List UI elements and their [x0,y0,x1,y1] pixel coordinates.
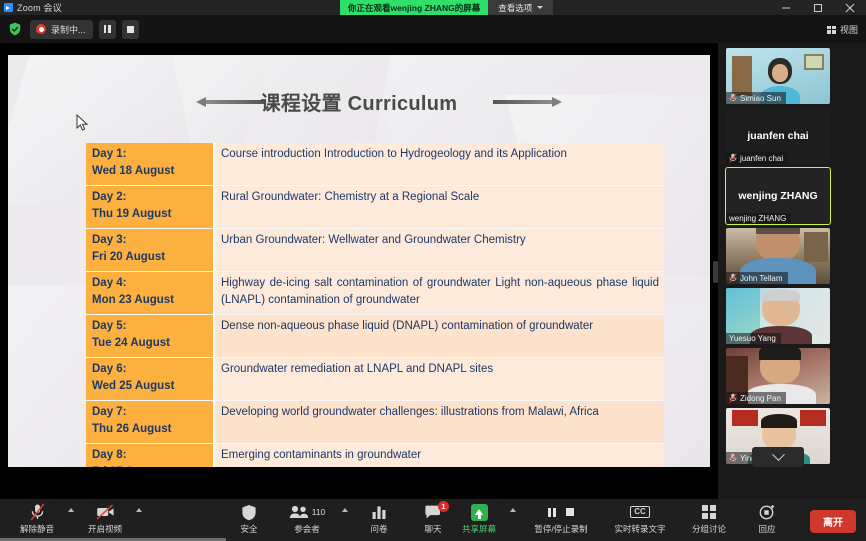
participant-name-tag: Yuesuo Yang [726,333,781,344]
day-cell: Day 5: Tue 24 August [86,314,214,357]
view-options-label: 查看选项 [498,2,532,14]
toolbar-left-group: 解除静音 开启视频 [10,499,146,541]
participant-tile-yuesuo-yang[interactable]: Yuesuo Yang [726,288,830,344]
security-label: 安全 [240,523,257,535]
day-cell: Day 8: Fri 27 August [86,443,214,467]
chat-label: 聊天 [424,523,441,535]
window-title-bar: Zoom 会议 你正在观看wenjing ZHANG的屏幕 查看选项 [0,0,866,15]
participant-tile-simiao-sun[interactable]: Simiao Sun [726,48,830,104]
share-screen-icon [471,503,488,521]
leave-meeting-button[interactable]: 离开 [810,510,856,533]
minimize-button[interactable] [770,0,802,15]
pause-stop-recording-label: 暂停/停止录制 [534,523,587,535]
participant-name: Yuesuo Yang [729,334,776,343]
table-row: Day 3: Fri 20 AugustUrban Groundwater: W… [86,228,664,271]
reactions-label: 回应 [758,523,775,535]
security-shield-icon [8,22,22,37]
topic-cell: Dense non-aqueous phase liquid (DNAPL) c… [214,314,664,357]
toolbar-right-group: 共享屏幕 暂停/停止录制 CC 实时转录文字 分组讨论 [452,499,794,541]
topic-cell: Course introduction Introduction to Hydr… [214,143,664,185]
reactions-button[interactable]: 回应 [740,499,794,541]
poll-bars-icon [371,503,387,521]
chevron-up-icon [510,508,516,512]
participant-name: juanfen chai [740,154,783,163]
table-row: Day 4: Mon 23 AugustHighway de-icing sal… [86,271,664,314]
day-cell: Day 7: Thu 26 August [86,400,214,443]
pause-stop-record-icon [548,503,573,521]
participants-button[interactable]: 110 参会者 [276,499,338,541]
participant-name: Zidong Pan [740,394,781,403]
shield-icon [241,503,257,521]
video-off-icon [96,503,115,521]
polls-label: 问卷 [370,523,387,535]
start-video-button[interactable]: 开启视频 [78,499,132,541]
recording-control-bar: 录制中... 视图 [0,15,866,43]
participant-filmstrip[interactable]: Simiao Sun juanfen chai juanfen chai wen… [718,43,866,499]
start-video-label: 开启视频 [88,523,122,535]
chevron-up-icon [136,508,142,512]
microphone-muted-icon [729,153,737,163]
view-label: 视图 [840,23,858,36]
curriculum-table: Day 1: Wed 18 AugustCourse introduction … [86,143,664,467]
participant-name-tag: John Tellam [726,272,788,284]
topic-cell: Emerging contaminants in groundwater [214,443,664,467]
stop-icon [566,508,574,516]
table-row: Day 8: Fri 27 AugustEmerging contaminant… [86,443,664,467]
recording-label: 录制中... [51,23,86,36]
day-cell: Day 1: Wed 18 August [86,143,214,185]
chevron-up-icon [342,508,348,512]
zoom-logo-icon [4,3,13,12]
toolbar-center-group: 安全 110 参会者 问 [222,499,460,541]
participants-label: 参会者 [294,523,320,535]
microphone-muted-icon [729,93,737,103]
chevron-down-icon [537,6,543,9]
participant-name: John Tellam [740,274,783,283]
chat-unread-badge: 1 [438,501,449,512]
unmute-label: 解除静音 [20,523,54,535]
maximize-button[interactable] [802,0,834,15]
filmstrip-scroll-down-button[interactable] [752,447,804,467]
screen-share-status-group: 你正在观看wenjing ZHANG的屏幕 查看选项 [340,0,553,15]
presentation-slide: 课程设置 Curriculum Day 1: Wed 18 AugustCour… [8,55,710,467]
breakout-rooms-button[interactable]: 分组讨论 [678,499,740,541]
pause-icon [548,508,555,517]
share-screen-button[interactable]: 共享屏幕 [452,499,506,541]
slide-title: 课程设置 Curriculum [8,87,710,116]
topic-cell: Urban Groundwater: Wellwater and Groundw… [214,228,664,271]
close-button[interactable] [834,0,866,15]
day-cell: Day 6: Wed 25 August [86,357,214,400]
participant-tile-juanfen-chai[interactable]: juanfen chai juanfen chai [726,108,830,164]
live-transcript-button[interactable]: CC 实时转录文字 [602,499,678,541]
participants-count: 110 [312,507,326,517]
participants-options-caret[interactable] [338,499,352,541]
microphone-muted-icon [30,503,45,521]
pause-icon [104,25,111,33]
participant-tile-wenjing-zhang[interactable]: wenjing ZHANG wenjing ZHANG [726,168,830,224]
mouse-cursor-icon [76,114,89,137]
topic-cell: Highway de-icing salt contamination of g… [214,271,664,314]
closed-caption-icon: CC [630,503,650,521]
pause-stop-recording-button[interactable]: 暂停/停止录制 [520,499,602,541]
participant-name-tag: Zidong Pan [726,392,786,404]
grid-view-icon [827,26,836,34]
table-row: Day 1: Wed 18 AugustCourse introduction … [86,143,664,185]
participant-name-tag: juanfen chai [726,152,788,164]
video-options-caret[interactable] [132,499,146,541]
topic-cell: Groundwater remediation at LNAPL and DNA… [214,357,664,400]
share-screen-label: 共享屏幕 [462,523,496,535]
breakout-rooms-label: 分组讨论 [692,523,726,535]
window-controls [770,0,866,15]
reactions-icon [759,503,776,521]
security-button[interactable]: 安全 [222,499,276,541]
audio-options-caret[interactable] [64,499,78,541]
share-options-caret[interactable] [506,499,520,541]
meeting-toolbar: 解除静音 开启视频 安全 [0,499,866,541]
record-dot-icon [36,24,46,34]
chevron-up-icon [68,508,74,512]
chevron-down-icon [772,448,785,461]
day-cell: Day 4: Mon 23 August [86,271,214,314]
table-row: Day 5: Tue 24 AugustDense non-aqueous ph… [86,314,664,357]
live-transcript-label: 实时转录文字 [614,523,665,535]
curriculum-table-body: Day 1: Wed 18 AugustCourse introduction … [86,143,664,467]
participant-name-tag: wenjing ZHANG [726,213,791,224]
participants-icon: 110 [289,503,326,521]
window-title: Zoom 会议 [17,1,62,14]
topic-cell: Developing world groundwater challenges:… [214,400,664,443]
polls-button[interactable]: 问卷 [352,499,406,541]
table-row: Day 6: Wed 25 AugustGroundwater remediat… [86,357,664,400]
participant-name: wenjing ZHANG [729,214,786,223]
participant-name: Simiao Sun [740,94,781,103]
microphone-muted-icon [729,393,737,403]
view-options-button[interactable]: 查看选项 [488,0,553,15]
unmute-button[interactable]: 解除静音 [10,499,64,541]
shared-screen-stage: 课程设置 Curriculum Day 1: Wed 18 AugustCour… [0,43,718,499]
recording-indicator: 录制中... [30,20,93,39]
screen-share-banner: 你正在观看wenjing ZHANG的屏幕 [340,0,488,15]
participant-tile-zidong-pan[interactable]: Zidong Pan [726,348,830,404]
table-row: Day 7: Thu 26 AugustDeveloping world gro… [86,400,664,443]
day-cell: Day 3: Fri 20 August [86,228,214,271]
breakout-rooms-icon [702,503,716,521]
view-button[interactable]: 视图 [827,21,858,38]
stop-icon [127,26,134,33]
pause-recording-button[interactable] [99,20,116,39]
microphone-muted-icon [729,273,737,283]
stop-recording-button[interactable] [122,20,139,39]
participant-tile-john-tellam[interactable]: John Tellam [726,228,830,284]
table-row: Day 2: Thu 19 AugustRural Groundwater: C… [86,185,664,228]
microphone-muted-icon [729,453,737,463]
topic-cell: Rural Groundwater: Chemistry at a Region… [214,185,664,228]
day-cell: Day 2: Thu 19 August [86,185,214,228]
participant-name-tag: Simiao Sun [726,92,786,104]
